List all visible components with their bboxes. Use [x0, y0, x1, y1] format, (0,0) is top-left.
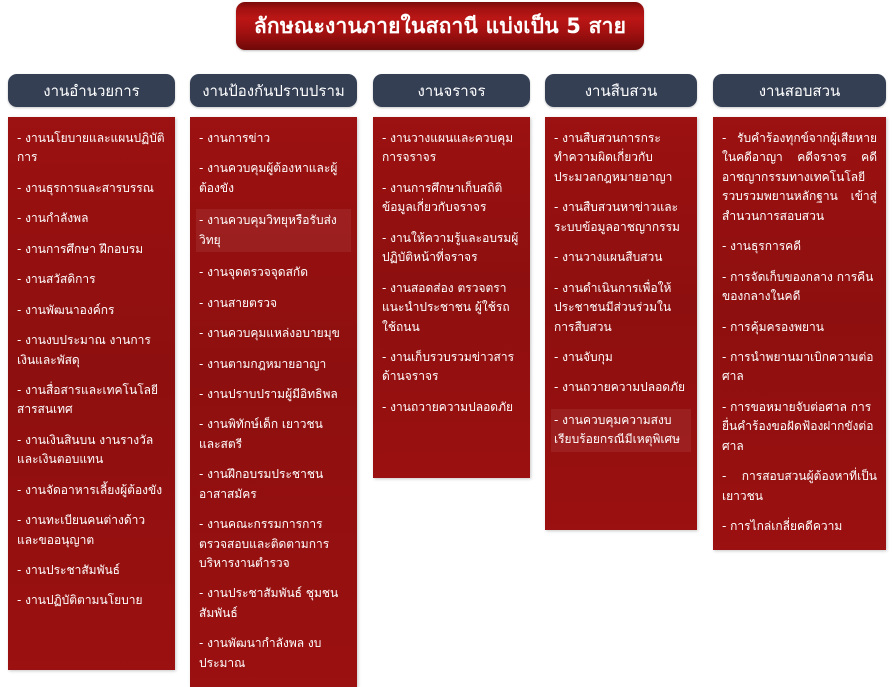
column-body-traffic: - งานวางแผนและควบคุมการจราจร - งานการศึก…	[373, 117, 530, 478]
diagram-title-banner: ลักษณะงานภายในสถานี แบ่งเป็น 5 สาย	[236, 2, 644, 50]
list-item: - งานปฏิบัติตามนโยบาย	[17, 591, 166, 610]
column-header-crime-prevention[interactable]: งานป้องกันปราบปราม	[190, 74, 357, 107]
list-item: - การสอบสวนผู้ต้องหาที่เป็นเยาวชน	[722, 467, 877, 506]
list-item: - งานพิทักษ์เด็ก เยาวชน และสตรี	[199, 415, 348, 454]
list-item: - งานจับกุม	[554, 348, 688, 367]
list-item: - งานสืบสวนหาข่าวและระบบข้อมูลอาชญากรรม	[554, 198, 688, 237]
list-item: - งานธุรการคดี	[722, 237, 877, 256]
list-item: - งานกำลังพล	[17, 209, 166, 228]
list-item: - งานดำเนินการเพื่อให้ประชาชนมีส่วนร่วมใ…	[554, 279, 688, 337]
list-item: - งานธุรการและสารบรรณ	[17, 179, 166, 198]
list-item: - งานถวายความปลอดภัย	[554, 378, 688, 397]
list-item: - งานพัฒนากำลังพล งบประมาณ	[199, 634, 348, 673]
list-item: - การนำพยานมาเบิกความต่อศาล	[722, 348, 877, 387]
list-item: - งานควบคุมแหล่งอบายมุข	[199, 324, 348, 343]
list-item: - งานคณะกรรมการการตรวจสอบและติดตามการบริ…	[199, 515, 348, 573]
list-item: - งานสายตรวจ	[199, 294, 348, 313]
list-item: - รับคำร้องทุกข์จากผู้เสียหายในคดีอาญา ค…	[722, 129, 877, 226]
list-item: - งานการข่าว	[199, 129, 348, 148]
list-item: - การไกล่เกลี่ยคดีความ	[722, 517, 877, 536]
list-item: - งานทะเบียนคนต่างด้าวและขออนุญาต	[17, 511, 166, 550]
list-item-highlighted: - งานควบคุมความสงบเรียบร้อยกรณีมีเหตุพิเ…	[551, 409, 691, 452]
column-inquiry: งานสอบสวน - รับคำร้องทุกข์จากผู้เสียหายใ…	[713, 74, 886, 550]
list-item: - งานการศึกษา ฝึกอบรม	[17, 240, 166, 259]
list-item: - งานถวายความปลอดภัย	[382, 398, 521, 417]
list-item: - การขอหมายจับต่อศาล การยื่นคำร้องขอฝัดฟ…	[722, 398, 877, 456]
list-item: - งานสืบสวนการกระทำความผิดเกี่ยวกับประมว…	[554, 129, 688, 187]
column-body-inquiry: - รับคำร้องทุกข์จากผู้เสียหายในคดีอาญา ค…	[713, 117, 886, 550]
list-item: - งานเงินสินบน งานรางวัลและเงินตอบแทน	[17, 431, 166, 470]
column-header-traffic[interactable]: งานจราจร	[373, 74, 530, 107]
list-item: - งานตามกฎหมายอาญา	[199, 355, 348, 374]
list-item: - งานประชาสัมพันธ์	[17, 561, 166, 580]
list-item: - งานสวัสดิการ	[17, 270, 166, 289]
list-item: - งานพัฒนาองค์กร	[17, 301, 166, 320]
column-body-crime-prevention: - งานการข่าว - งานควบคุมผู้ต้องหาและผู้ต…	[190, 117, 357, 687]
column-investigation: งานสืบสวน - งานสืบสวนการกระทำความผิดเกี่…	[545, 74, 697, 530]
list-item: - งานเก็บรวบรวมข่าวสารด้านจราจร	[382, 348, 521, 387]
list-item: - งานควบคุมผู้ต้องหาและผู้ต้องขัง	[199, 159, 348, 198]
list-item: - การจัดเก็บของกลาง การคืนของกลางในคดี	[722, 268, 877, 307]
column-body-administration: - งานนโยบายและแผนปฏิบัติการ - งานธุรการแ…	[8, 117, 175, 670]
list-item: - งานวางแผนและควบคุมการจราจร	[382, 129, 521, 168]
column-header-inquiry[interactable]: งานสอบสวน	[713, 74, 886, 107]
list-item: - งานจุดตรวจจุดสกัด	[199, 263, 348, 282]
list-item: - งานปราบปรามผู้มีอิทธิพล	[199, 385, 348, 404]
list-item: - งานสอดส่อง ตรวจตรา แนะนำประชาชน ผู้ใช้…	[382, 279, 521, 337]
list-item: - งานวางแผนสืบสวน	[554, 248, 688, 267]
list-item-highlighted: - งานควบคุมวิทยุหรือรับส่งวิทยุ	[196, 209, 351, 252]
list-item: - งานนโยบายและแผนปฏิบัติการ	[17, 129, 166, 168]
column-header-investigation[interactable]: งานสืบสวน	[545, 74, 697, 107]
list-item: - งานฝึกอบรมประชาชนอาสาสมัคร	[199, 465, 348, 504]
column-traffic: งานจราจร - งานวางแผนและควบคุมการจราจร - …	[373, 74, 530, 478]
list-item: - การคุ้มครองพยาน	[722, 318, 877, 337]
column-crime-prevention: งานป้องกันปราบปราม - งานการข่าว - งานควบ…	[190, 74, 357, 687]
column-body-investigation: - งานสืบสวนการกระทำความผิดเกี่ยวกับประมว…	[545, 117, 697, 530]
list-item: - งานจัดอาหารเลี้ยงผู้ต้องขัง	[17, 481, 166, 500]
list-item: - งานการศึกษาเก็บสถิติข้อมูลเกี่ยวกับจรา…	[382, 179, 521, 218]
list-item: - งานให้ความรู้และอบรมผู้ปฏิบัติหน้าที่จ…	[382, 229, 521, 268]
column-administration: งานอำนวยการ - งานนโยบายและแผนปฏิบัติการ …	[8, 74, 175, 670]
list-item: - งานงบประมาณ งานการเงินและพัสดุ	[17, 331, 166, 370]
list-item: - งานประชาสัมพันธ์ ชุมชนสัมพันธ์	[199, 584, 348, 623]
column-header-administration[interactable]: งานอำนวยการ	[8, 74, 175, 107]
diagram-title-text: ลักษณะงานภายในสถานี แบ่งเป็น 5 สาย	[254, 10, 626, 43]
list-item: - งานสื่อสารและเทคโนโลยีสารสนเทศ	[17, 381, 166, 420]
